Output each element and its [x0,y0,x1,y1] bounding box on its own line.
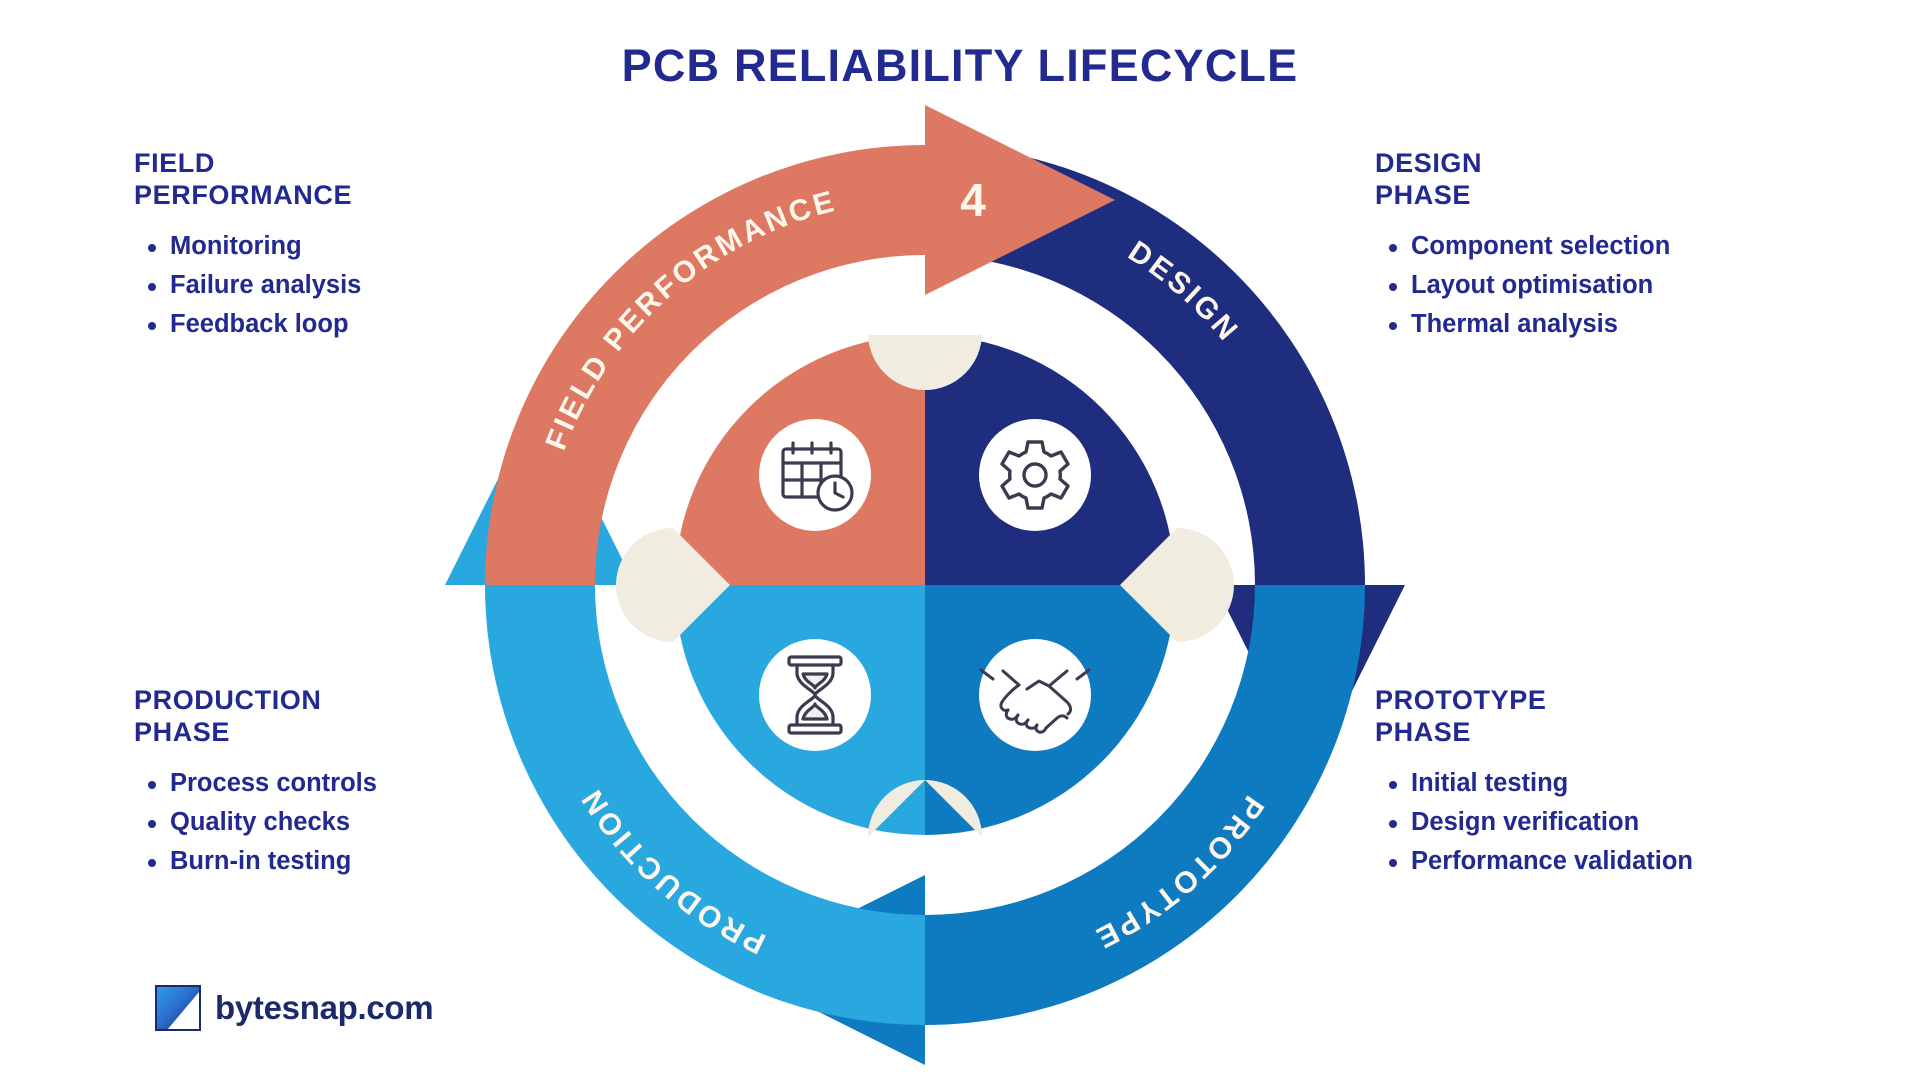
lifecycle-cycle-diagram: DESIGN 1 PROTOTYPE 2 PRODUCTION 3 FIELD … [425,85,1425,1085]
icon-bubble-production[interactable] [759,639,871,751]
phase-block-field-performance: FIELD PERFORMANCE Monitoring Failure ana… [134,148,361,343]
bytesnap-logo-mark-icon [155,985,201,1031]
list-item: Process controls [170,764,377,803]
icon-bubble-prototype[interactable] [979,639,1091,751]
phase-list-production: Process controls Quality checks Burn-in … [134,764,377,880]
list-item: Failure analysis [170,266,361,305]
list-item: Performance validation [1411,842,1693,881]
bytesnap-logo[interactable]: bytesnap.com [155,985,433,1031]
phase-list-field-performance: Monitoring Failure analysis Feedback loo… [134,227,361,343]
list-item: Component selection [1411,227,1670,266]
list-item: Monitoring [170,227,361,266]
phase-block-production: PRODUCTION PHASE Process controls Qualit… [134,685,377,880]
icon-bubble-design[interactable] [979,419,1091,531]
list-item: Feedback loop [170,305,361,344]
list-item: Quality checks [170,803,377,842]
phase-heading-field-performance: FIELD PERFORMANCE [134,148,361,211]
icon-bubble-field-performance[interactable] [759,419,871,531]
bytesnap-logo-text: bytesnap.com [215,989,433,1027]
list-item: Burn-in testing [170,842,377,881]
phase-heading-production: PRODUCTION PHASE [134,685,377,748]
list-item: Layout optimisation [1411,266,1670,305]
list-item: Initial testing [1411,764,1693,803]
list-item: Thermal analysis [1411,305,1670,344]
inner-quadrant-disc [675,335,1175,835]
cycle-arc-number-field-performance: 4 [960,174,986,226]
list-item: Design verification [1411,803,1693,842]
